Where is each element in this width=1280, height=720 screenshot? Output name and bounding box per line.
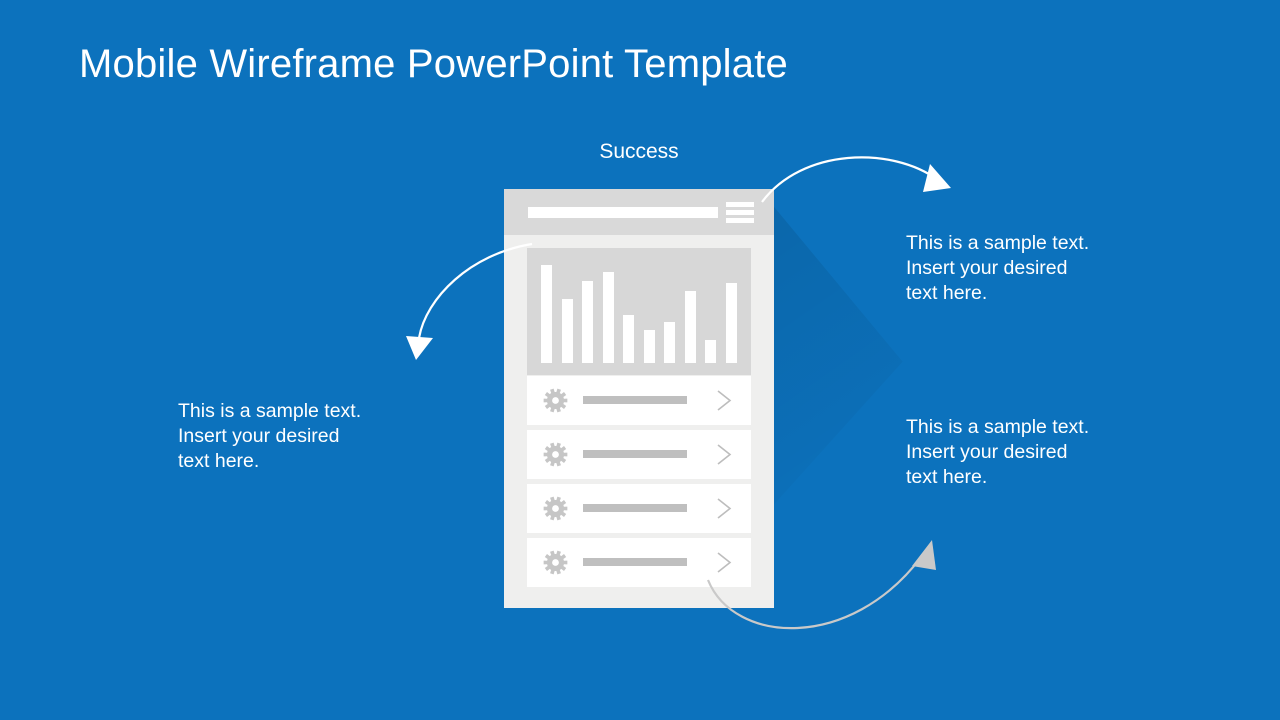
hamburger-line xyxy=(726,218,754,223)
gear-icon xyxy=(543,550,568,575)
callout-text-left: This is a sample text. Insert your desir… xyxy=(178,399,408,474)
bar-chart-plot xyxy=(541,260,737,363)
hamburger-line xyxy=(726,202,754,207)
chart-bar xyxy=(541,265,552,363)
gear-icon xyxy=(543,388,568,413)
chevron-right-icon[interactable] xyxy=(711,441,737,468)
list-item[interactable] xyxy=(527,376,751,425)
list-item-label-placeholder xyxy=(583,504,687,512)
gear-icon xyxy=(543,496,568,521)
chart-bar xyxy=(726,283,737,363)
list-item[interactable] xyxy=(527,484,751,533)
list-item-label-placeholder xyxy=(583,396,687,404)
list-item[interactable] xyxy=(527,430,751,479)
bar-chart-card xyxy=(527,248,751,375)
chevron-right-icon[interactable] xyxy=(711,549,737,576)
chevron-right-icon[interactable] xyxy=(711,495,737,522)
phone-wireframe xyxy=(504,189,774,608)
chart-bar xyxy=(685,291,696,363)
chart-bar xyxy=(623,315,634,363)
mockup-caption: Success xyxy=(504,140,774,164)
chart-bar xyxy=(603,272,614,363)
chart-bar xyxy=(582,281,593,363)
page-title: Mobile Wireframe PowerPoint Template xyxy=(79,42,788,87)
chart-bar xyxy=(562,299,573,363)
search-input[interactable] xyxy=(528,207,718,218)
chart-bar xyxy=(664,322,675,363)
callout-text-right-top: This is a sample text. Insert your desir… xyxy=(906,231,1136,306)
hamburger-icon[interactable] xyxy=(726,202,754,223)
list-item[interactable] xyxy=(527,538,751,587)
chevron-right-icon[interactable] xyxy=(711,387,737,414)
callout-text-right-bottom: This is a sample text. Insert your desir… xyxy=(906,415,1136,490)
list-item-label-placeholder xyxy=(583,450,687,458)
chart-bar xyxy=(705,340,716,363)
chart-bar xyxy=(644,330,655,363)
list-item-label-placeholder xyxy=(583,558,687,566)
gear-icon xyxy=(543,442,568,467)
hamburger-line xyxy=(726,210,754,215)
curved-arrow-top-right xyxy=(752,142,962,232)
phone-navbar xyxy=(504,189,774,235)
